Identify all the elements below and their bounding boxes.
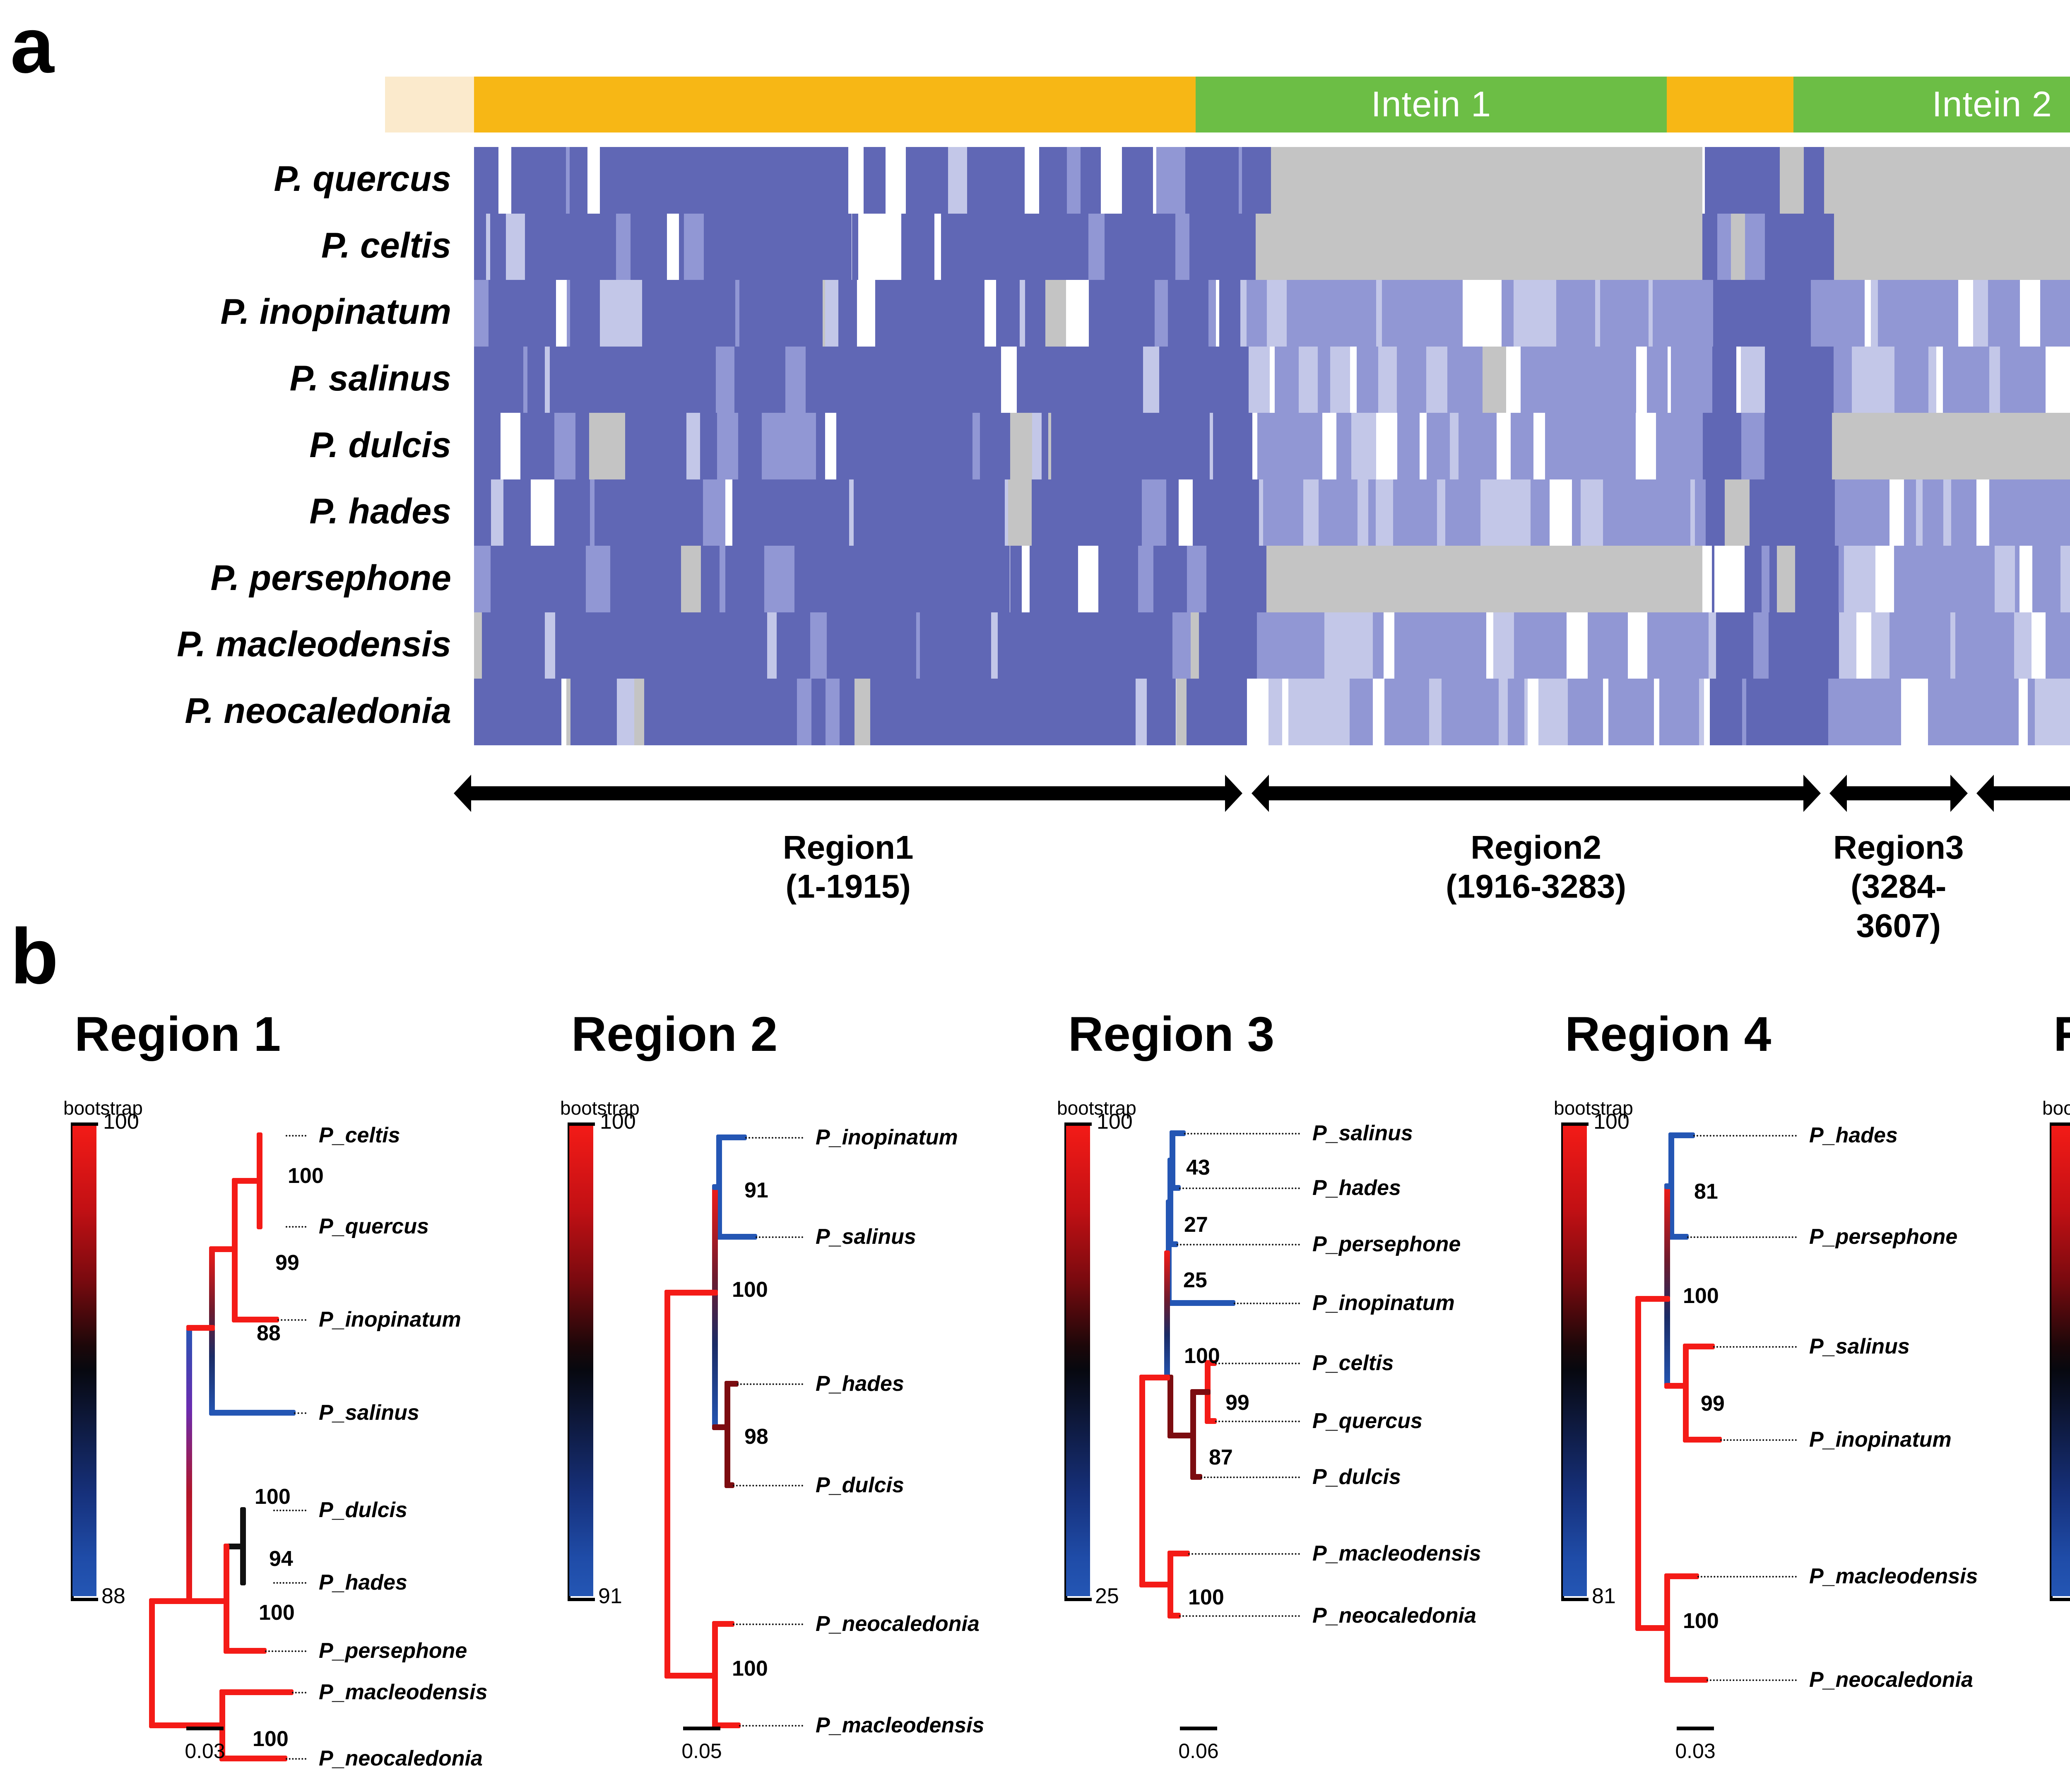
alignment-column (1001, 612, 1022, 679)
tip-label-p_dulcis: P_dulcis (1312, 1464, 1401, 1489)
alignment-column (1779, 612, 1789, 679)
alignment-column (1996, 679, 2005, 745)
alignment-column (1818, 546, 1822, 612)
alignment-species-labels: P. quercusP. celtisP. inopinatumP. salin… (0, 147, 464, 745)
alignment-column (1521, 347, 1544, 413)
alignment-column (1239, 147, 1242, 214)
alignment-column (810, 612, 827, 679)
alignment-column (1376, 280, 1382, 347)
alignment-column (1916, 479, 1922, 546)
region-caption-region2: Region2(1916-3283) (1253, 828, 1819, 906)
alignment-column (967, 147, 986, 214)
alignment-column (1943, 479, 1951, 546)
alignment-column (1991, 612, 2005, 679)
arrow-head-right-icon (1225, 775, 1242, 812)
alignment-column (1599, 347, 1618, 413)
alignment-column (1120, 413, 1141, 479)
alignment-column (906, 147, 909, 214)
alignment-column (875, 280, 896, 347)
alignment-column (589, 413, 603, 479)
alignment-column (516, 679, 536, 745)
alignment-column (1136, 679, 1147, 745)
alignment-column (730, 147, 749, 214)
alignment-column (1088, 214, 1105, 280)
alignment-column (854, 479, 864, 546)
alignment-column (953, 612, 957, 679)
alignment-column (1450, 413, 1459, 479)
alignment-column (523, 612, 527, 679)
alignment-column (2068, 479, 2070, 546)
alignment-column (1788, 214, 1805, 280)
alignment-column (1514, 612, 1538, 679)
alignment-column (1844, 546, 1853, 612)
alignment-column (1731, 214, 1745, 280)
alignment-column (780, 214, 797, 280)
alignment-row (474, 347, 2070, 413)
alignment-column (1343, 280, 1352, 347)
tree-branch (1635, 1296, 1641, 1631)
alignment-column (1717, 214, 1731, 280)
panel-a-letter: a (10, 6, 54, 85)
alignment-column (1191, 147, 1214, 214)
alignment-column (1461, 479, 1480, 546)
tip-leader-line (294, 1412, 306, 1414)
alignment-column (955, 214, 964, 280)
alignment-column (1126, 546, 1133, 612)
alignment-column (1871, 612, 1889, 679)
alignment-column (847, 679, 854, 745)
alignment-column (1962, 546, 1966, 612)
region-caption-range: (1-1915) (455, 867, 1241, 906)
alignment-column (1593, 679, 1599, 745)
alignment-column (1208, 280, 1216, 347)
alignment-column (1750, 479, 1771, 546)
alignment-column (1219, 612, 1243, 679)
alignment-column (1008, 147, 1024, 214)
alignment-column (477, 147, 498, 214)
alignment-column (922, 214, 934, 280)
alignment-column (809, 413, 816, 479)
scale-bar-label: 0.06 (1157, 1739, 1240, 1763)
tree-branch (186, 1325, 215, 1331)
alignment-column (1397, 347, 1411, 413)
alignment-column (1817, 214, 1834, 280)
alignment-column (1208, 347, 1225, 413)
alignment-column (1178, 347, 1185, 413)
alignment-column (1117, 546, 1126, 612)
alignment-column (988, 479, 1005, 546)
alignment-column (600, 147, 611, 214)
alignment-column (1459, 413, 1465, 479)
alignment-column (1028, 280, 1034, 347)
alignment-column (1516, 679, 1524, 745)
alignment-column (1060, 679, 1076, 745)
alignment-column (879, 546, 886, 612)
alignment-column (1672, 280, 1692, 347)
alignment-column (1213, 413, 1231, 479)
alignment-column (1035, 679, 1060, 745)
alignment-column (1010, 546, 1022, 612)
alignment-column (1303, 479, 1318, 546)
tip-label-p_salinus: P_salinus (319, 1400, 419, 1425)
alignment-column (796, 280, 800, 347)
alignment-column (1474, 612, 1477, 679)
gene-segment-exon-2 (1667, 77, 1794, 132)
alignment-column (1988, 280, 1996, 347)
tip-leader-line (1184, 1133, 1300, 1134)
alignment-column (1799, 413, 1822, 479)
alignment-column (782, 147, 791, 214)
alignment-column (797, 214, 817, 280)
alignment-column (1429, 679, 1442, 745)
alignment-column (1397, 280, 1416, 347)
alignment-column (1039, 147, 1057, 214)
alignment-gap-block (1251, 214, 1702, 280)
alignment-column (854, 679, 870, 745)
gene-segment-utr-left (385, 77, 474, 132)
alignment-column (1772, 612, 1779, 679)
alignment-column (980, 413, 996, 479)
alignment-column (1330, 347, 1350, 413)
alignment-column (1860, 479, 1864, 546)
alignment-column (2007, 479, 2011, 546)
alignment-column (1620, 612, 1628, 679)
tree-branch (1668, 1132, 1695, 1138)
alignment-column (809, 280, 823, 347)
alignment-column (891, 413, 901, 479)
alignment-column (993, 546, 1010, 612)
tip-label-p_neocaledonia: P_neocaledonia (1809, 1667, 1973, 1692)
alignment-column (651, 214, 667, 280)
alignment-column (1966, 546, 1990, 612)
tip-leader-line (277, 1319, 306, 1321)
alignment-column (1416, 479, 1428, 546)
tip-label-p_macleodensis: P_macleodensis (1312, 1541, 1481, 1566)
alignment-column (844, 347, 862, 413)
alignment-column (675, 347, 698, 413)
alignment-column (1755, 280, 1776, 347)
alignment-column (744, 546, 765, 612)
panel-b: b Region 1bootstrap10088P_celtisP_quercu… (0, 903, 2070, 1792)
alignment-column (1400, 413, 1411, 479)
tip-label-p_salinus: P_salinus (1312, 1121, 1413, 1146)
alignment-column (1954, 280, 1958, 347)
alignment-column (942, 612, 953, 679)
alignment-column (1032, 347, 1042, 413)
alignment-column (1850, 679, 1865, 745)
alignment-column (1678, 612, 1685, 679)
alignment-column (486, 479, 491, 546)
alignment-column (1432, 280, 1446, 347)
tree-branch (1664, 1183, 1674, 1189)
alignment-column (1239, 479, 1259, 546)
alignment-column (1695, 347, 1700, 413)
tip-leader-line (286, 1135, 306, 1137)
alignment-column (1196, 413, 1210, 479)
alignment-column (1355, 679, 1373, 745)
alignment-column (1692, 280, 1713, 347)
scale-bar-label: 0.03 (1654, 1739, 1737, 1763)
alignment-column (1700, 347, 1712, 413)
alignment-column (1086, 612, 1092, 679)
alignment-column (1550, 612, 1567, 679)
alignment-column (651, 347, 675, 413)
alignment-column (1810, 679, 1814, 745)
alignment-column (1996, 280, 2020, 347)
alignment-column (1095, 347, 1112, 413)
alignment-column (1330, 679, 1349, 745)
tree-branch (186, 1325, 192, 1604)
alignment-column (2064, 612, 2070, 679)
alignment-column (780, 679, 797, 745)
alignment-column (556, 347, 577, 413)
alignment-column (1726, 147, 1736, 214)
alignment-column (893, 347, 917, 413)
alignment-column (1659, 679, 1679, 745)
alignment-column (603, 413, 625, 479)
alignment-column (532, 546, 551, 612)
alignment-column (1804, 147, 1824, 214)
alignment-column (948, 280, 964, 347)
tree-branch (1683, 1344, 1715, 1349)
tree-branch (664, 1290, 670, 1679)
tree-region-2: Region 2bootstrap10091P_inopinatumP_sali… (546, 903, 1035, 1792)
gene-segment-label-intein-1: Intein 1 (1196, 77, 1666, 132)
alignment-column (1172, 147, 1185, 214)
alignment-column (1733, 612, 1753, 679)
alignment-column (1229, 679, 1232, 745)
tip-label-p_hades: P_hades (1809, 1123, 1898, 1148)
alignment-column (474, 280, 481, 347)
alignment-column (1989, 347, 2000, 413)
alignment-column (1257, 413, 1280, 479)
alignment-column (600, 679, 617, 745)
alignment-column (886, 546, 910, 612)
alignment-column (1502, 280, 1510, 347)
alignment-column (967, 479, 987, 546)
alignment-column (1267, 280, 1286, 347)
alignment-column (1619, 679, 1632, 745)
alignment-column (1047, 214, 1064, 280)
alignment-column (875, 479, 893, 546)
alignment-column (741, 679, 758, 745)
bootstrap-value: 25 (1183, 1268, 1207, 1293)
alignment-column (2000, 347, 2014, 413)
alignment-column (1300, 413, 1322, 479)
scale-bar-label: 0.05 (660, 1739, 743, 1763)
alignment-column (738, 413, 762, 479)
alignment-column (1318, 347, 1330, 413)
alignment-column (1124, 280, 1133, 347)
alignment-column (570, 679, 586, 745)
tip-label-p_persephone: P_persephone (1312, 1232, 1461, 1257)
alignment-column (716, 280, 735, 347)
alignment-column (1295, 413, 1300, 479)
alignment-column (1572, 280, 1589, 347)
alignment-column (536, 679, 548, 745)
alignment-column (1504, 479, 1510, 546)
alignment-column (1769, 612, 1772, 679)
alignment-column (550, 147, 566, 214)
alignment-column (602, 612, 611, 679)
alignment-column (1853, 546, 1875, 612)
gene-architecture-bar: Intein 1Intein 2 (385, 77, 2070, 132)
alignment-column (864, 479, 875, 546)
alignment-column (1702, 214, 1707, 280)
alignment-column (1809, 612, 1817, 679)
alignment-column (1172, 347, 1178, 413)
alignment-column (972, 413, 980, 479)
tree-branch (664, 1290, 718, 1296)
alignment-column (997, 679, 1000, 745)
alignment-column (1122, 479, 1142, 546)
alignment-column (1142, 479, 1166, 546)
alignment-column (574, 214, 577, 280)
alignment-column (1210, 413, 1213, 479)
alignment-column (1352, 280, 1376, 347)
tip-leader-line (292, 1692, 306, 1693)
tree-branch (209, 1410, 296, 1416)
alignment-column (1599, 679, 1603, 745)
alignment-column (491, 479, 503, 546)
alignment-column (785, 347, 796, 413)
tip-leader-line (1177, 1244, 1300, 1245)
alignment-column (720, 546, 725, 612)
alignment-column (1780, 147, 1804, 214)
alignment-column (751, 280, 770, 347)
alignment-column (767, 147, 782, 214)
alignment-column (1247, 147, 1271, 214)
alignment-column (910, 546, 919, 612)
alignment-column (681, 546, 696, 612)
alignment-column (1147, 679, 1155, 745)
alignment-column (1411, 347, 1426, 413)
alignment-column (1081, 147, 1091, 214)
alignment-column (523, 347, 528, 413)
alignment-column (1589, 280, 1595, 347)
arrow-head-left-icon (1976, 775, 1994, 812)
alignment-matrix (474, 147, 2070, 745)
alignment-column (1717, 147, 1726, 214)
alignment-column (1235, 214, 1243, 280)
alignment-column (1894, 546, 1899, 612)
alignment-column (1357, 347, 1376, 413)
alignment-column (1557, 679, 1568, 745)
alignment-column (1173, 413, 1196, 479)
alignment-column (474, 679, 496, 745)
alignment-column (1625, 347, 1636, 413)
alignment-column (1376, 479, 1393, 546)
alignment-column (1719, 679, 1742, 745)
tree-branch (209, 1246, 215, 1416)
alignment-column (862, 546, 879, 612)
alignment-column (1771, 479, 1794, 546)
bootstrap-value: 100 (1184, 1344, 1220, 1368)
alignment-column (909, 147, 932, 214)
tree-branch (1664, 1183, 1670, 1389)
tree-branch (186, 1598, 229, 1604)
tree-branch (1166, 1300, 1235, 1306)
alignment-column (489, 280, 513, 347)
alignment-column (2065, 280, 2070, 347)
alignment-column (1150, 612, 1172, 679)
alignment-column (932, 147, 948, 214)
alignment-column (1670, 479, 1681, 546)
alignment-column (794, 479, 804, 546)
alignment-column (1442, 679, 1461, 745)
alignment-column (1511, 413, 1520, 479)
panel-a: a Intein 1Intein 2 P. quercusP. celtisP.… (0, 0, 2070, 903)
alignment-column (611, 147, 631, 214)
tip-label-p_celtis: P_celtis (319, 1123, 400, 1148)
alignment-column (2014, 612, 2031, 679)
alignment-column (1716, 612, 1734, 679)
alignment-column (1172, 612, 1191, 679)
tip-label-p_quercus: P_quercus (319, 1214, 429, 1239)
alignment-column (919, 280, 933, 347)
alignment-column (746, 214, 761, 280)
tip-label-p_persephone: P_persephone (319, 1638, 467, 1663)
alignment-column (741, 546, 744, 612)
alignment-column (1220, 679, 1229, 745)
alignment-column (595, 479, 614, 546)
alignment-column (1155, 280, 1168, 347)
scale-bar (1180, 1727, 1217, 1730)
alignment-column (1603, 479, 1619, 546)
alignment-column (725, 546, 741, 612)
alignment-column (574, 147, 584, 214)
alignment-column (505, 347, 516, 413)
alignment-column (1249, 347, 1270, 413)
tip-leader-line (1687, 1236, 1797, 1238)
alignment-column (1764, 413, 1769, 479)
alignment-column (1447, 347, 1459, 413)
alignment-column (1745, 546, 1762, 612)
alignment-column (1092, 612, 1102, 679)
alignment-column (1214, 214, 1235, 280)
alignment-row (474, 413, 2070, 479)
alignment-column (1958, 347, 1972, 413)
alignment-column (561, 612, 580, 679)
alignment-column (796, 347, 806, 413)
alignment-column (1798, 280, 1811, 347)
alignment-column (764, 546, 773, 612)
alignment-column (496, 546, 501, 612)
alignment-column (508, 679, 516, 745)
region-caption-name: Region2 (1253, 828, 1819, 867)
alignment-column (961, 546, 965, 612)
alignment-column (820, 147, 825, 214)
alignment-column (679, 214, 684, 280)
alignment-column (1850, 479, 1860, 546)
alignment-column (622, 280, 642, 347)
alignment-column (1889, 679, 1901, 745)
alignment-column (1135, 214, 1146, 280)
alignment-column (1686, 347, 1695, 413)
tree-branch (1683, 1344, 1689, 1443)
alignment-column (1709, 612, 1716, 679)
alignment-column (573, 546, 586, 612)
alignment-column (1481, 679, 1498, 745)
alignment-column (922, 479, 939, 546)
alignment-column (1493, 612, 1514, 679)
tree-branch (712, 1184, 718, 1430)
alignment-column (634, 679, 645, 745)
alignment-column (1687, 612, 1709, 679)
alignment-column (1307, 679, 1330, 745)
alignment-column (841, 214, 852, 280)
bootstrap-value: 43 (1186, 1155, 1210, 1180)
